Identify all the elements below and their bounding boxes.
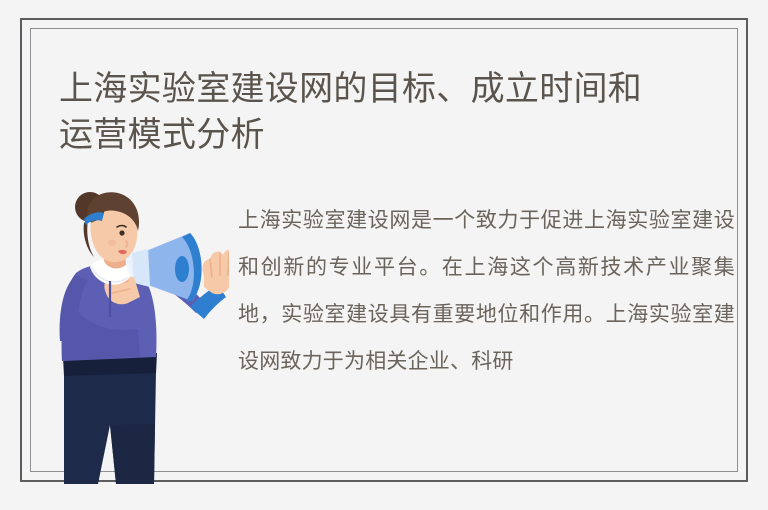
article-body-area: 上海实验室建设网是一个致力于促进上海实验室建设和创新的专业平台。在上海这个高新技… — [31, 187, 759, 487]
article-body-text: 上海实验室建设网是一个致力于促进上海实验室建设和创新的专业平台。在上海这个高新技… — [238, 197, 735, 385]
page-title: 上海实验室建设网的目标、成立时间和 运营模式分析 — [59, 66, 749, 158]
article-card-page: 上海实验室建设网的目标、成立时间和 运营模式分析 — [0, 0, 768, 510]
card-content: 上海实验室建设网的目标、成立时间和 运营模式分析 — [31, 29, 759, 493]
decorative-inner-frame: 上海实验室建设网的目标、成立时间和 运营模式分析 — [30, 28, 738, 472]
decorative-outer-frame: 上海实验室建设网的目标、成立时间和 运营模式分析 — [20, 18, 748, 482]
woman-with-megaphone-illustration — [54, 189, 229, 489]
